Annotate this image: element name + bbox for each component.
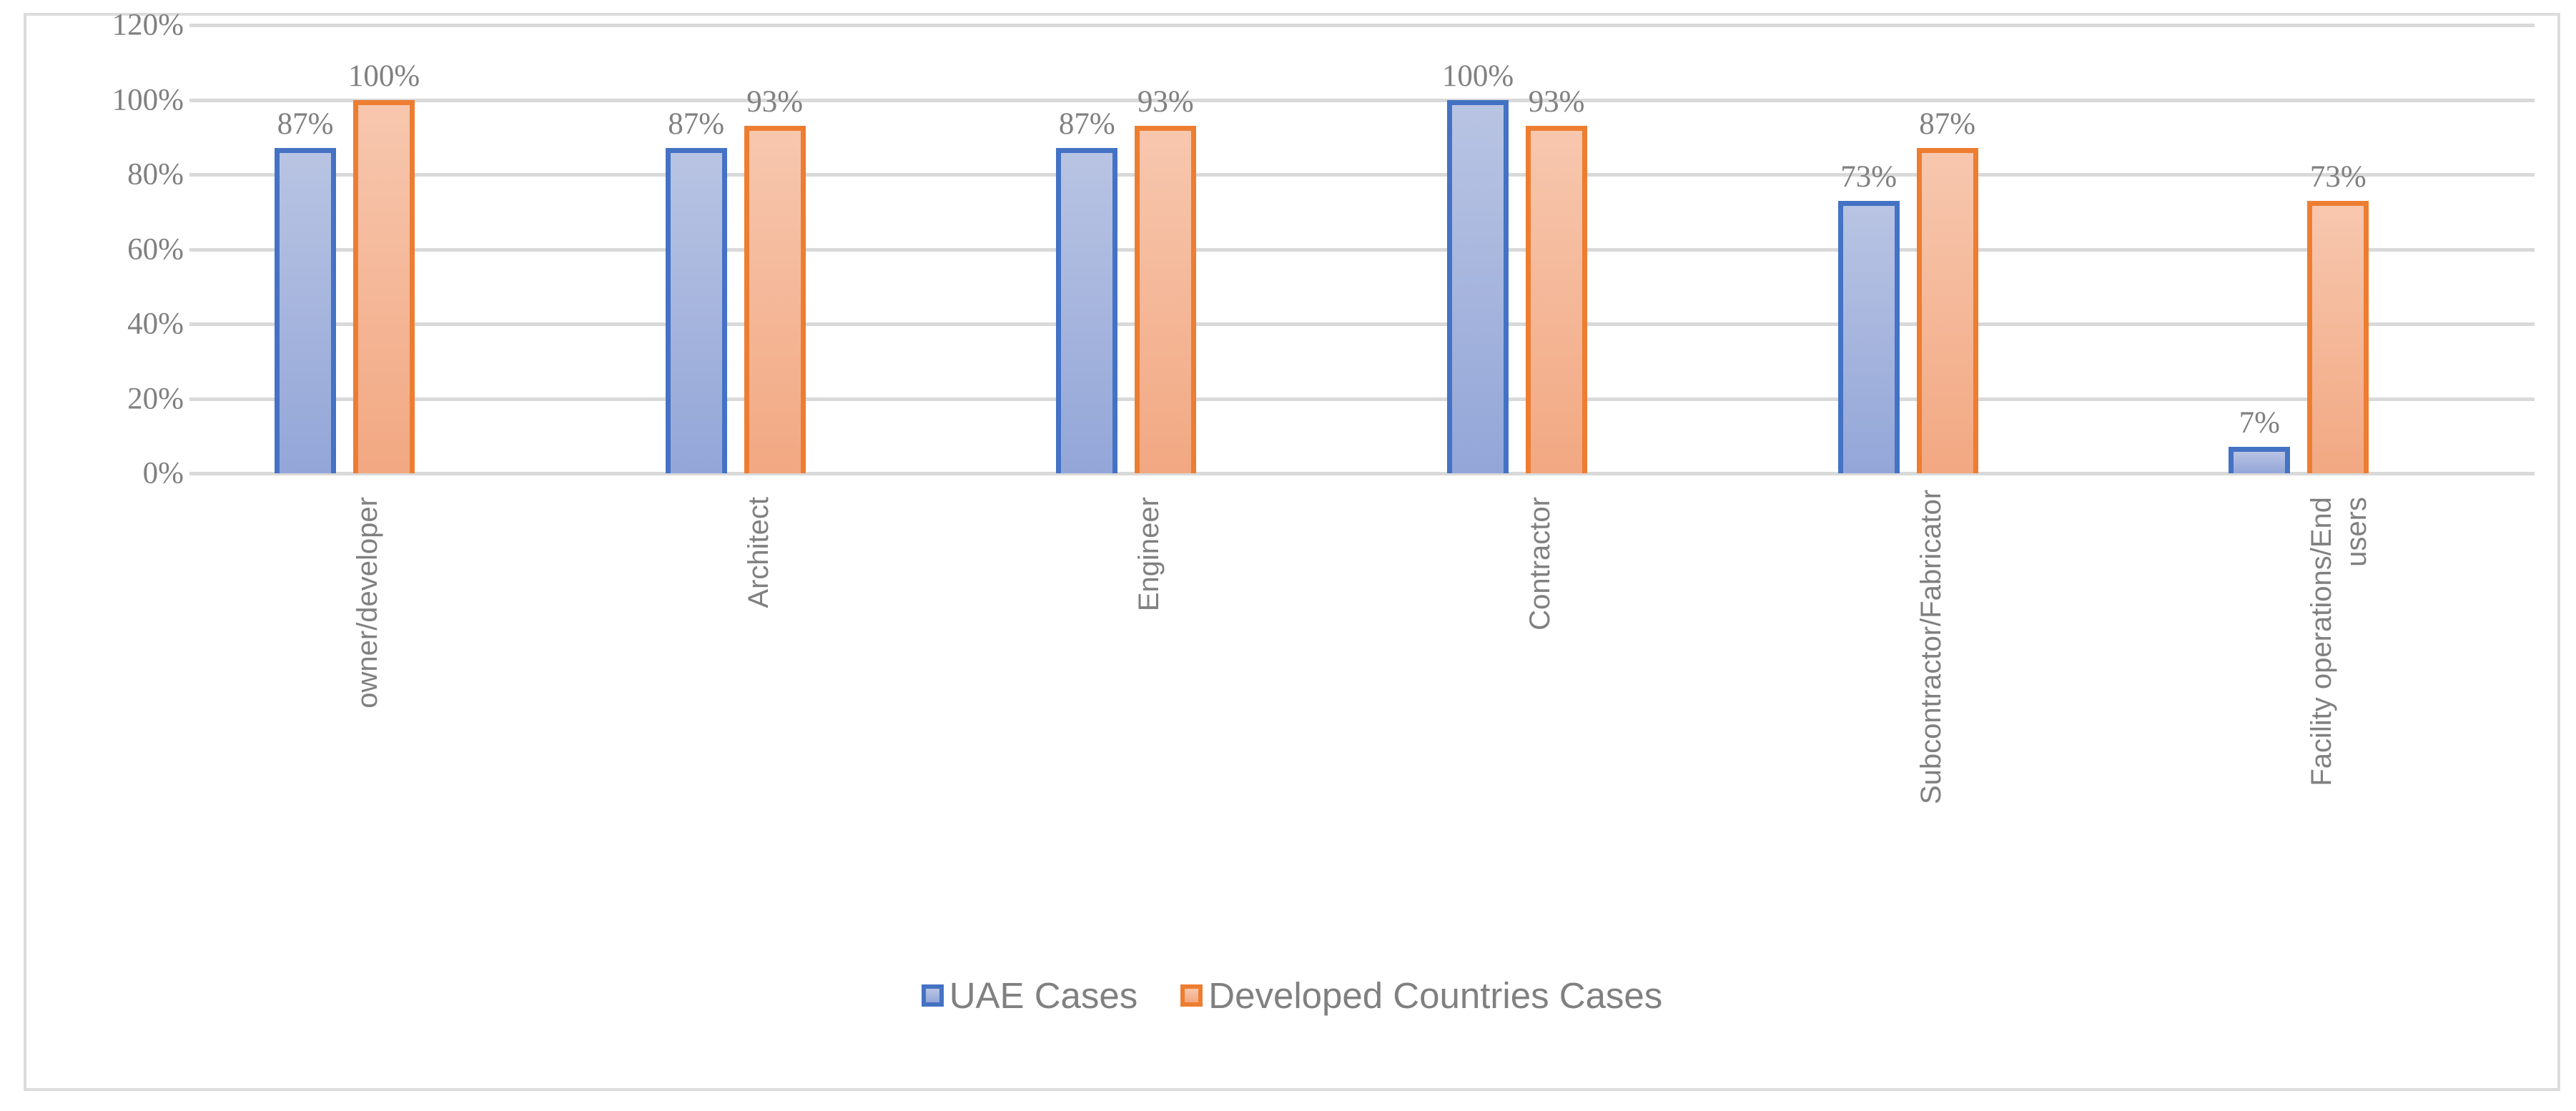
bar-dev[interactable] [744,126,806,473]
bar-data-label: 73% [1819,162,1919,192]
bar-uae[interactable] [1056,148,1117,473]
bar-group-bars: 87%100% [189,25,581,473]
plot-area: 87%100%owner/developer87%93%Architect87%… [189,25,2535,473]
bar-data-label: 73% [2288,162,2388,192]
legend-swatch-icon [1180,984,1203,1007]
bar-group: 73%87%Subcontractor/Fabricator [1753,25,2144,473]
bar-group: 100%93%Contractor [1362,25,1753,473]
chart-container: 120%100%80%60%40%20%0% 87%100%owner/deve… [24,13,2560,1091]
bar-uae[interactable] [275,148,336,473]
y-axis-tick-label: 120% [112,10,184,41]
bar-group-bars: 73%87% [1753,25,2144,473]
bar-dev[interactable] [2307,201,2369,473]
bar-group: 87%100%owner/developer [189,25,581,473]
y-axis-tick-label: 100% [112,84,184,115]
legend-item[interactable]: Developed Countries Cases [1180,977,1662,1014]
bar-uae[interactable] [666,148,727,473]
bar-group-bars: 100%93% [1362,25,1753,473]
bar-uae[interactable] [1838,201,1900,473]
bar-group-bars: 87%93% [971,25,1362,473]
y-axis-tick-label: 60% [127,234,184,265]
bar-dev[interactable] [1135,126,1196,473]
x-axis-category-label: Engineer [1132,497,1167,804]
bar-data-label: 87% [255,109,355,139]
bar-group: 87%93%Engineer [971,25,1362,473]
bar-group: 87%93%Architect [581,25,972,473]
bar-data-label: 87% [1898,109,1998,139]
bar-dev[interactable] [353,100,415,474]
y-axis-tick-label: 80% [127,159,184,190]
legend-label: Developed Countries Cases [1208,977,1662,1014]
x-axis-category-label: Facility operations/End users [2304,497,2374,804]
chart-legend: UAE CasesDeveloped Countries Cases [26,977,2557,1014]
bar-group: 7%73%Facility operations/End users [2143,25,2535,473]
bar-dev[interactable] [1526,126,1587,473]
x-axis-category-label: Subcontractor/Fabricator [1914,497,1949,804]
bar-dev[interactable] [1917,148,1978,473]
bar-data-label: 93% [1115,87,1215,117]
bar-uae[interactable] [1447,100,1509,474]
legend-swatch-icon [922,984,944,1007]
legend-label: UAE Cases [949,977,1138,1014]
x-axis-category-label: owner/developer [350,497,385,804]
x-axis-category-label: Contractor [1523,497,1558,804]
bar-uae[interactable] [2229,447,2290,473]
y-axis-tick-label: 20% [127,383,184,414]
bar-group-bars: 7%73% [2143,25,2535,473]
y-axis: 120%100%80%60%40%20%0% [48,25,184,473]
bar-data-label: 93% [725,87,825,117]
y-axis-tick-label: 0% [143,458,184,489]
bar-data-label: 7% [2209,408,2309,438]
bar-group-bars: 87%93% [581,25,972,473]
x-axis-category-label: Architect [741,497,776,804]
legend-item[interactable]: UAE Cases [922,977,1138,1014]
bar-data-label: 93% [1506,87,1607,117]
y-axis-tick-label: 40% [127,309,184,340]
bar-data-label: 100% [334,61,434,92]
